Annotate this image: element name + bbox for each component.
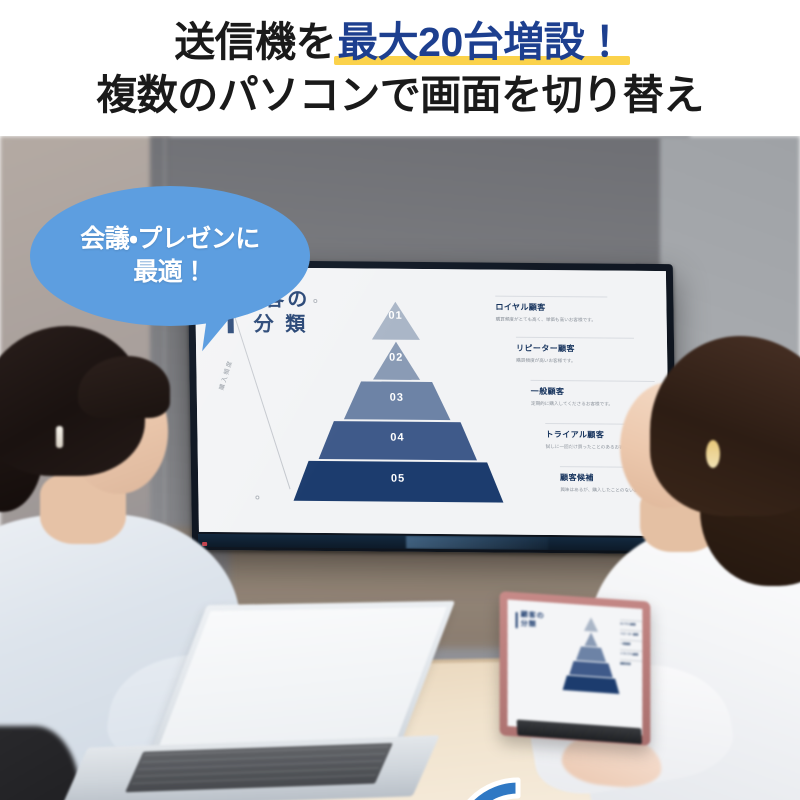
tablet-legend-2: リピーター顧客 (620, 631, 642, 637)
tablet: 顧客の 分類 (496, 592, 653, 745)
tablet-legend-5: 顧客候補 (620, 661, 642, 667)
headline-line-2: 複数のパソコンで画面を切り替え (0, 72, 800, 119)
tablet-screen: 顧客の 分類 (508, 600, 643, 736)
legend-desc-1: 購買頻度がとても高く、単価も高いお客様です。 (496, 316, 608, 324)
speech-bubble-line1: 会議・プレゼンに (80, 223, 260, 256)
wifi-signal-icon (440, 772, 526, 800)
tablet-legend-4: トライアル顧客 (620, 651, 642, 657)
speech-bubble-line2: 最適！ (133, 256, 207, 289)
tablet-legend-1: ロイヤル顧客 (620, 621, 642, 627)
axis-dot-bottom (255, 495, 259, 499)
pyramid-level-3-number: 03 (390, 392, 404, 404)
pyramid-level-1-number: 01 (388, 310, 402, 322)
photo-scene: 顧客の 分 類 購入頻度 01 (0, 136, 800, 800)
tablet-legend: ロイヤル顧客 リピーター顧客 一般顧客 トライアル顧客 顧客候補 (620, 619, 642, 671)
headline-highlight-text: 最大20台増設！ (337, 19, 625, 65)
pyramid-level-4-number: 04 (390, 432, 404, 444)
tablet-title-line2: 分類 (521, 620, 537, 628)
person-right-earring (706, 440, 720, 468)
tv-chin-reflection (406, 536, 548, 550)
laptop-key-rows (129, 746, 388, 789)
laptop-screen (157, 607, 447, 751)
tablet-title-line1: 顧客の (521, 611, 545, 620)
tablet-slide: 顧客の 分類 (508, 600, 643, 736)
pyramid-level-5-number: 05 (391, 473, 405, 485)
pyramid-chart: 01 02 03 (275, 301, 518, 503)
legend-rule (495, 296, 607, 298)
legend-item-1: ロイヤル顧客 購買頻度がとても高く、単価も高いお客様です。 (495, 296, 607, 324)
headline-line1-prefix: 送信機を (174, 19, 336, 65)
tablet-legend-3: 一般顧客 (620, 641, 642, 647)
speech-bubble-text: 会議・プレゼンに 最適！ (30, 186, 310, 326)
pyramid-level-2-number: 02 (389, 352, 403, 364)
tablet-slide-title: 顧客の 分類 (521, 610, 545, 630)
person-left-earring (56, 426, 63, 448)
laptop (69, 610, 425, 800)
person-right-hair (650, 336, 800, 516)
headline-block: 送信機を最大20台増設！ 複数のパソコンで画面を切り替え (0, 0, 800, 136)
laptop-lid (149, 601, 455, 757)
tablet-pyramid (560, 615, 622, 697)
promo-banner: 送信機を最大20台増設！ 複数のパソコンで画面を切り替え 顧客の (0, 0, 800, 800)
headline-line-1: 送信機を最大20台増設！ (0, 19, 800, 66)
headline-highlight: 最大20台増設！ (336, 19, 626, 66)
speech-bubble: 会議・プレゼンに 最適！ (30, 186, 310, 326)
legend-title-1: ロイヤル顧客 (495, 302, 607, 314)
tablet-title-accent (516, 612, 518, 628)
